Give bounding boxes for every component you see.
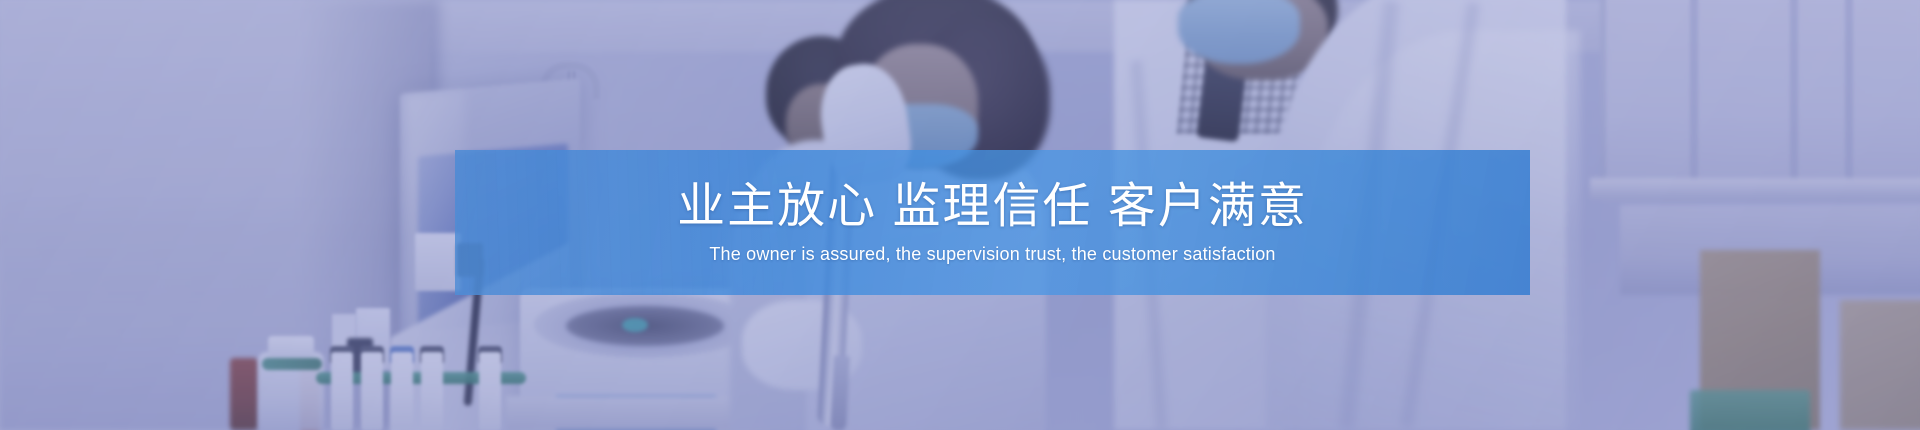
slogan-band: 业主放心 监理信任 客户满意 The owner is assured, the… [455, 150, 1530, 295]
hero-banner: 业主放心 监理信任 客户满意 The owner is assured, the… [0, 0, 1920, 430]
slogan-content: 业主放心 监理信任 客户满意 The owner is assured, the… [455, 150, 1530, 295]
banner-headline: 业主放心 监理信任 客户满意 [677, 180, 1308, 234]
banner-subtitle: The owner is assured, the supervision tr… [709, 244, 1275, 265]
